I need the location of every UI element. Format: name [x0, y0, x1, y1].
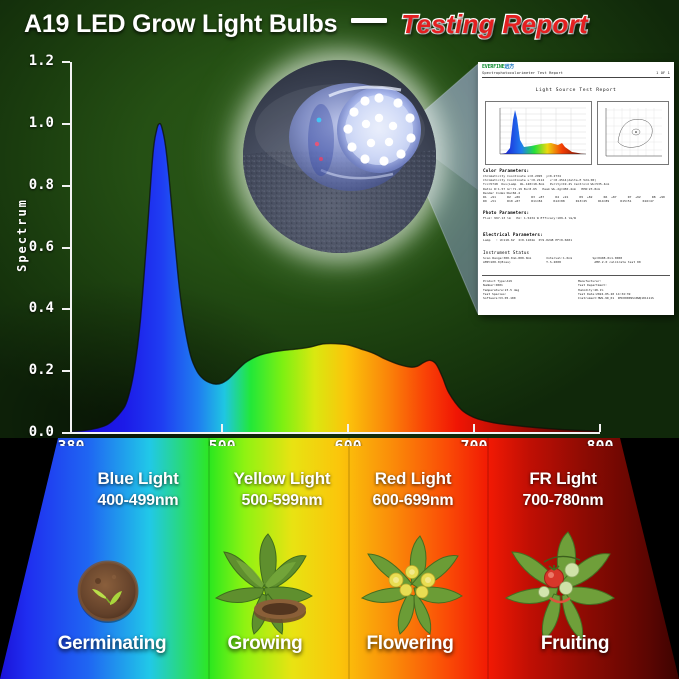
y-tick	[62, 432, 70, 434]
y-tick-label: 1.2	[8, 53, 54, 69]
stage-label-flowering: Flowering	[320, 633, 500, 655]
y-tick-label: 0.4	[8, 300, 54, 316]
y-tick-label: 0.2	[8, 362, 54, 378]
band-name-red: Red Light	[353, 468, 473, 490]
y-tick	[62, 247, 70, 249]
stage-label-germinating: Germinating	[22, 633, 202, 655]
y-tick-label: 0.8	[8, 177, 54, 193]
y-tick-label: 1.0	[8, 115, 54, 131]
x-tick-label: 800	[570, 437, 630, 446]
y-tick-label: 0.6	[8, 239, 54, 255]
x-tick	[599, 424, 601, 432]
flowering-plant-icon	[350, 528, 475, 640]
band-name-yellow: Yellow Light	[222, 468, 342, 490]
band-label-yellow: Yellow Light 500-599nm	[222, 468, 342, 511]
title-separator-dash	[351, 18, 387, 23]
y-tick	[62, 308, 70, 310]
x-tick	[473, 424, 475, 432]
x-tick-label: 600	[318, 437, 378, 446]
spectrum-chart-area: A19 LED Grow Light Bulbs Testing Report	[0, 0, 679, 446]
band-range-blue: 400-499nm	[78, 490, 198, 511]
band-name-blue: Blue Light	[78, 468, 198, 490]
y-tick	[62, 370, 70, 372]
band-label-blue: Blue Light 400-499nm	[78, 468, 198, 511]
y-tick	[62, 185, 70, 187]
y-tick	[62, 61, 70, 63]
seedling-in-pot-icon	[58, 541, 158, 641]
axis-tick-layer: 0.00.20.40.60.81.01.2380500600700800	[0, 0, 679, 446]
band-name-fr: FR Light	[493, 468, 633, 490]
page-title: A19 LED Grow Light Bulbs	[24, 10, 337, 39]
leafy-plant-icon	[202, 526, 327, 641]
x-tick-label: 380	[41, 437, 101, 446]
infographic-root: A19 LED Grow Light Bulbs Testing Report	[0, 0, 679, 679]
x-tick-label: 700	[444, 437, 504, 446]
band-label-fr: FR Light 700-780nm	[493, 468, 633, 511]
band-range-yellow: 500-599nm	[222, 490, 342, 511]
band-label-red: Red Light 600-699nm	[353, 468, 473, 511]
band-range-red: 600-699nm	[353, 490, 473, 511]
title-accent-testing-report: Testing Report	[401, 9, 588, 40]
band-range-fr: 700-780nm	[493, 490, 633, 511]
stage-label-fruiting: Fruiting	[495, 633, 655, 655]
fruiting-plant-icon	[488, 526, 633, 646]
x-tick-label: 500	[192, 437, 252, 446]
y-tick	[62, 123, 70, 125]
page-header: A19 LED Grow Light Bulbs Testing Report	[0, 4, 679, 44]
x-tick	[347, 424, 349, 432]
x-tick	[70, 424, 72, 432]
x-tick	[221, 424, 223, 432]
growth-stage-panel: Blue Light 400-499nm Germinating Yellow …	[0, 438, 679, 679]
